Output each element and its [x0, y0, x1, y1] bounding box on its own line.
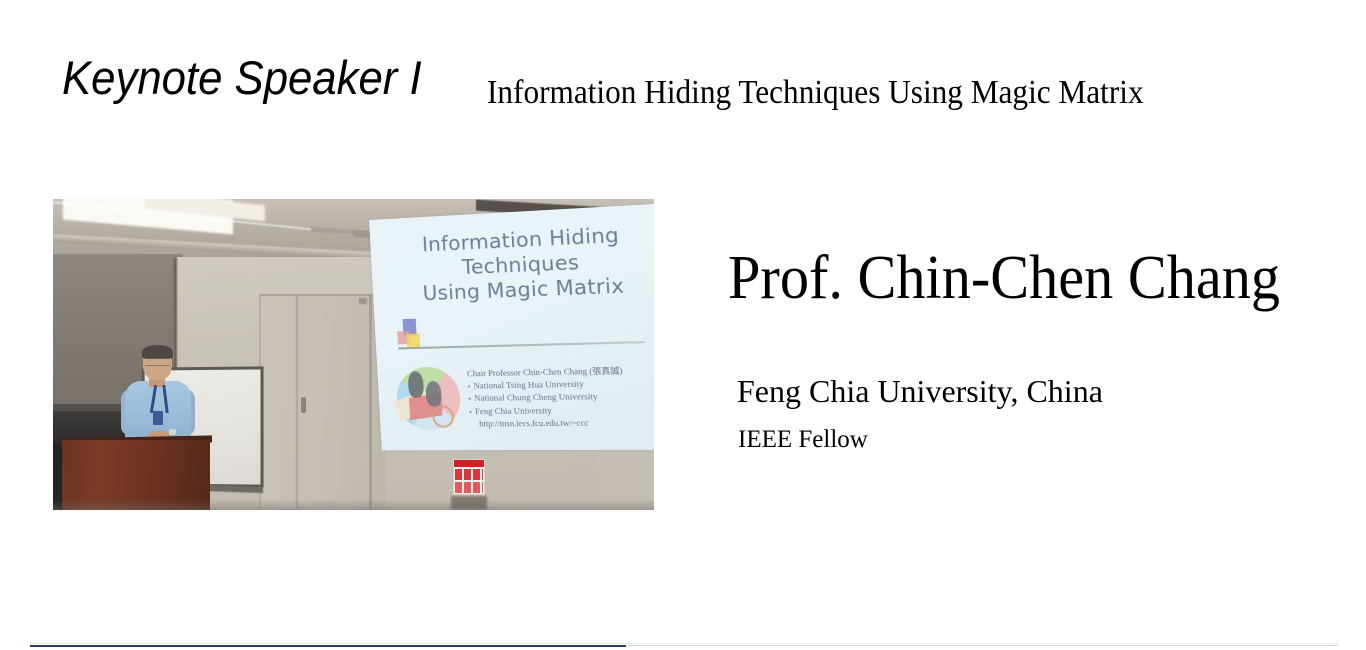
door-handle	[301, 397, 306, 413]
floor-shadow	[53, 499, 654, 510]
projected-slide-title-line2: Using Magic Matrix	[381, 272, 654, 308]
speaker-affiliation: Feng Chia University, China	[737, 371, 1103, 411]
footer-rule-accent	[30, 645, 626, 647]
keynote-label: Keynote Speaker I	[62, 50, 422, 106]
door-panel	[259, 294, 386, 510]
door-frame	[369, 294, 372, 510]
footer-rule	[626, 645, 1338, 646]
projected-slide-bullets: Chair Professor Chin-Chen Chang (張真誠) Na…	[467, 364, 654, 430]
door-closer	[359, 298, 367, 304]
speaker-honor: IEEE Fellow	[738, 424, 868, 456]
wristwatch-icon	[169, 429, 176, 435]
speaker-hair	[142, 345, 173, 359]
slide-divider-line	[398, 341, 645, 349]
emergency-sign-pictograms-row2	[455, 482, 483, 493]
talk-title: Information Hiding Techniques Using Magi…	[487, 72, 1144, 114]
name-badge	[153, 411, 163, 425]
slide-header: Keynote Speaker I Information Hiding Tec…	[0, 0, 1366, 130]
emergency-sign-pictograms-row1	[455, 469, 483, 480]
projected-slide-title-line1: Information Hiding Techniques	[421, 223, 619, 279]
slide-logo-ring	[432, 405, 455, 428]
speaker-name: Prof. Chin-Chen Chang	[728, 240, 1280, 316]
speaker-photo: Information Hiding Techniques Using Magi…	[53, 199, 654, 510]
glasses-icon	[145, 358, 170, 366]
slide-url: http://msn.iecs.fcu.edu.tw/~ccc	[470, 416, 654, 430]
door-seam	[296, 295, 298, 510]
projection-screen: Information Hiding Techniques Using Magi…	[369, 203, 654, 450]
footer-rule-faint	[30, 643, 1338, 644]
emergency-sign-banner	[454, 460, 484, 467]
projected-slide-title: Information Hiding Techniques Using Magi…	[378, 220, 654, 307]
